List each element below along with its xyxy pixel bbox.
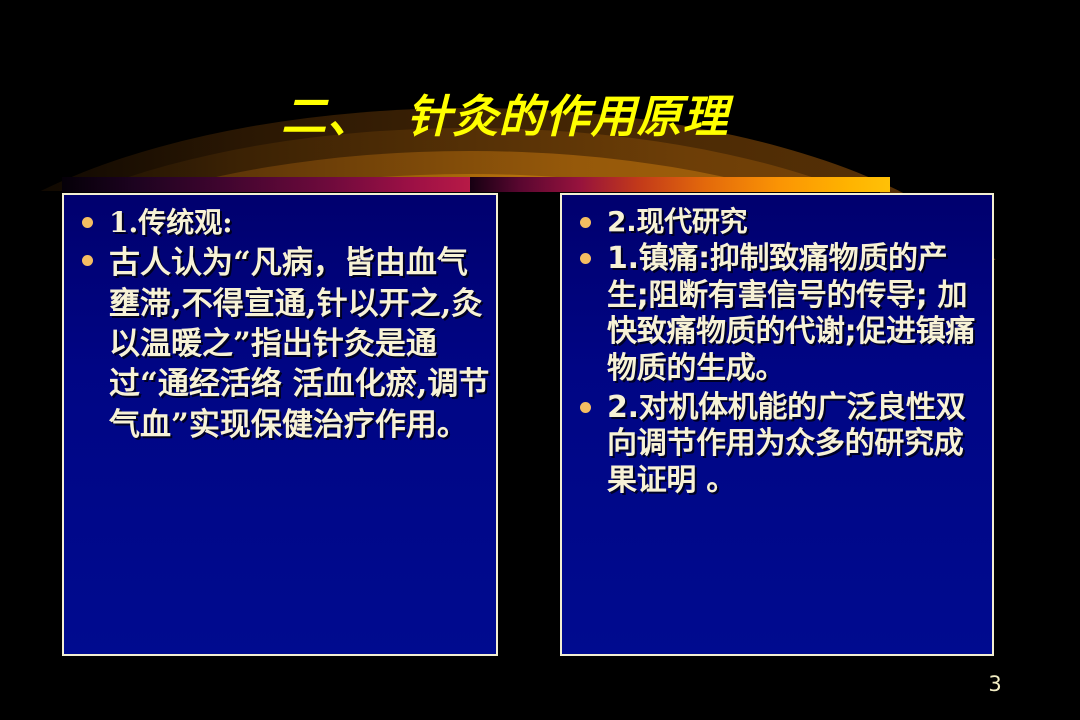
bullet-dot-icon (580, 402, 591, 413)
page-number: 3 (975, 672, 1015, 696)
list-item: 1.镇痛:抑制致痛物质的产生;阻断有害信号的传导; 加快致痛物质的代谢;促进镇痛… (570, 241, 986, 387)
list-item: 1.传统观: (72, 205, 490, 241)
bullet-dot-icon (82, 217, 93, 228)
bullet-dot-icon (580, 217, 591, 228)
bullet-dot-icon (82, 255, 93, 266)
modern-research-box: 2.现代研究 1.镇痛:抑制致痛物质的产生;阻断有害信号的传导; 加快致痛物质的… (560, 193, 994, 656)
list-item-label: 古人认为“凡病，皆由血气壅滞,不得宣通,针以开之,灸以温暖之”指出针灸是通过“通… (109, 243, 490, 444)
list-item: 古人认为“凡病，皆由血气壅滞,不得宣通,针以开之,灸以温暖之”指出针灸是通过“通… (72, 243, 490, 444)
slide-canvas: 二、 针灸的作用原理 1.传统观: 古人认为“凡病，皆由血气壅滞,不得宣通,针以… (0, 0, 1080, 720)
list-item: 2.对机体机能的广泛良性双向调节作用为众多的研究成果证明 。 (570, 390, 986, 500)
list-item-label: 2.现代研究 (607, 205, 986, 239)
list-item-label: 1.镇痛:抑制致痛物质的产生;阻断有害信号的传导; 加快致痛物质的代谢;促进镇痛… (607, 241, 986, 387)
list-item: 2.现代研究 (570, 205, 986, 239)
list-item-label: 2.对机体机能的广泛良性双向调节作用为众多的研究成果证明 。 (607, 390, 986, 500)
page-title: 二、 针灸的作用原理 (0, 93, 1080, 140)
bullet-dot-icon (580, 253, 591, 264)
traditional-view-box: 1.传统观: 古人认为“凡病，皆由血气壅滞,不得宣通,针以开之,灸以温暖之”指出… (62, 193, 498, 656)
list-item-label: 1.传统观: (109, 205, 490, 241)
